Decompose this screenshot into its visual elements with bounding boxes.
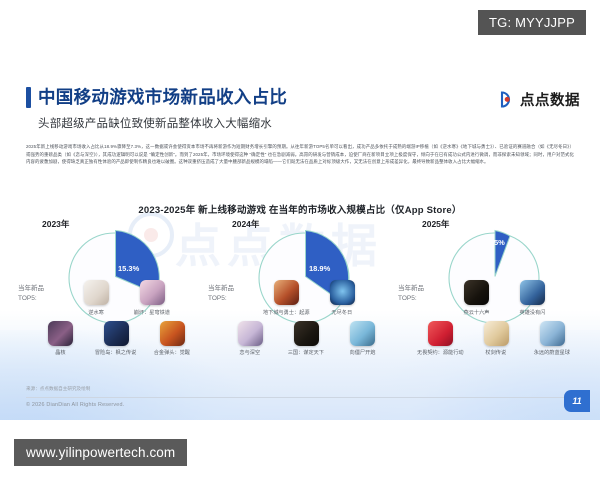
pie-value-label: 15.3% (118, 264, 139, 273)
source-note: 来源：点点数据自主研究及绘制 (26, 386, 90, 392)
game-name: 合金弹头：觉醒 (154, 348, 190, 356)
game-icon-grid: 燕云十六声 英雄没有闪 无畏契约：源能行动 杖剑传说 (410, 280, 586, 356)
list-item[interactable]: 杖剑传说 (468, 321, 524, 357)
game-name: 逆水寒 (88, 308, 104, 316)
game-icon-row-2: 无畏契约：源能行动 杖剑传说 永远的蔚蓝星球 (410, 321, 586, 357)
list-item[interactable]: 无畏契约：源能行动 (412, 321, 468, 357)
page-number-badge: 11 (564, 390, 590, 412)
list-item[interactable]: 三国：谋定天下 (278, 321, 334, 357)
game-icon-xingqiongtiedao[interactable] (140, 280, 165, 305)
game-icon-zhangjianchuanshuo[interactable] (484, 321, 509, 346)
url-watermark: www.yilinpowertech.com (14, 439, 187, 466)
game-icon-row-1: 燕云十六声 英雄没有闪 (410, 280, 586, 316)
game-icon-fengzhichuanshuo[interactable] (104, 321, 129, 346)
game-icon-valorant[interactable] (428, 321, 453, 346)
game-name: 崩坏：星穹铁道 (134, 308, 170, 316)
game-icon-yingxiongmeiyoushan[interactable] (520, 280, 545, 305)
list-item[interactable]: 燕云十六声 (448, 280, 504, 316)
game-icon-jinghe[interactable] (48, 321, 73, 346)
game-name: 无尽冬日 (332, 308, 353, 316)
game-name: 永远的蔚蓝星球 (534, 348, 570, 356)
list-item[interactable]: 晶核 (32, 321, 88, 357)
list-item[interactable]: 向僵尸开炮 (334, 321, 390, 357)
game-name: 无畏契约：源能行动 (417, 348, 464, 356)
game-icon-nishuihan[interactable] (84, 280, 109, 305)
slide-canvas: 点点数据 中国移动游戏市场新品收入占比 头部超级产品缺位致使新品整体收入大幅缩水… (0, 60, 600, 420)
page-subtitle: 头部超级产品缺位致使新品整体收入大幅缩水 (38, 115, 580, 131)
chart-panel-2024: 2024年 18.9% 当年新品TOP5: 地下城与勇士：起源 无 (204, 218, 394, 368)
list-item[interactable]: 英雄没有闪 (504, 280, 560, 316)
game-icon-xiangjiangshikaipao[interactable] (350, 321, 375, 346)
brand-logo: 点点数据 (499, 89, 580, 110)
list-item[interactable]: 合金弹头：觉醒 (144, 321, 200, 357)
page-title: 中国移动游戏市场新品收入占比 (38, 89, 287, 107)
chart-panel-2023: 2023年 15.3% 当年新品TOP5: 逆水寒 崩坏：星穹铁道 (14, 218, 204, 368)
list-item[interactable]: 无尽冬日 (314, 280, 370, 316)
title-row: 中国移动游戏市场新品收入占比 (26, 87, 580, 108)
list-item[interactable]: 地下城与勇士：起源 (258, 280, 314, 316)
list-item[interactable]: 逆水寒 (68, 280, 124, 316)
chart-panel-2025: 2025年 5% 当年新品TOP5: 燕云十六声 英雄没有闪 (394, 218, 584, 368)
game-icon-row-1: 地下城与勇士：起源 无尽冬日 (220, 280, 396, 316)
game-name: 三国：谋定天下 (288, 348, 324, 356)
game-icon-hejintantou[interactable] (160, 321, 185, 346)
pie-value-label: 5% (494, 238, 505, 247)
copyright-text: © 2026 DianDian All Rights Reserved. (26, 402, 124, 408)
game-name: 地下城与勇士：起源 (263, 308, 310, 316)
list-item[interactable]: 永远的蔚蓝星球 (524, 321, 580, 357)
chart-title: 2023-2025年 新上线移动游戏 在当年的市场收入规模占比（仅App Sto… (0, 202, 600, 216)
game-icon-dnf-qiyuan[interactable] (274, 280, 299, 305)
tg-watermark: TG: MYYJJPP (478, 10, 586, 35)
game-icon-sanguo[interactable] (294, 321, 319, 346)
game-name: 燕云十六声 (463, 308, 489, 316)
game-icon-yanyunshiliusheng[interactable] (464, 280, 489, 305)
game-icon-lianyushenkong[interactable] (238, 321, 263, 346)
game-icon-weilanxingqiu[interactable] (540, 321, 565, 346)
game-name: 晶核 (55, 348, 65, 356)
game-icon-row-2: 恋与深空 三国：谋定天下 向僵尸开炮 (220, 321, 396, 357)
game-icon-row-2: 晶核 冒险岛：枫之传说 合金弹头：觉醒 (30, 321, 206, 357)
brand-name: 点点数据 (520, 89, 580, 110)
chart-panels: 2023年 15.3% 当年新品TOP5: 逆水寒 崩坏：星穹铁道 (14, 218, 586, 368)
header: 中国移动游戏市场新品收入占比 头部超级产品缺位致使新品整体收入大幅缩水 点点数据 (26, 87, 580, 131)
diandian-logo-icon (499, 91, 516, 108)
game-name: 恋与深空 (240, 348, 261, 356)
game-name: 冒险岛：枫之传说 (95, 348, 136, 356)
list-item[interactable]: 冒险岛：枫之传说 (88, 321, 144, 357)
game-icon-wujindongri[interactable] (330, 280, 355, 305)
game-icon-row-1: 逆水寒 崩坏：星穹铁道 (30, 280, 206, 316)
game-name: 英雄没有闪 (519, 308, 545, 316)
title-accent-bar (26, 87, 31, 108)
game-icon-grid: 逆水寒 崩坏：星穹铁道 晶核 冒险岛：枫之传说 (30, 280, 206, 356)
footer-divider (26, 397, 574, 398)
pie-value-label: 18.9% (309, 264, 330, 273)
game-icon-grid: 地下城与勇士：起源 无尽冬日 恋与深空 三国：谋定天下 (220, 280, 396, 356)
game-name: 杖剑传说 (486, 348, 507, 356)
list-item[interactable]: 恋与深空 (222, 321, 278, 357)
game-name: 向僵尸开炮 (349, 348, 375, 356)
body-paragraph: 2025年新上线移动游戏市场收入占比从18.9%骤降至7.3%，这一数据或许会使… (26, 143, 574, 166)
list-item[interactable]: 崩坏：星穹铁道 (124, 280, 180, 316)
